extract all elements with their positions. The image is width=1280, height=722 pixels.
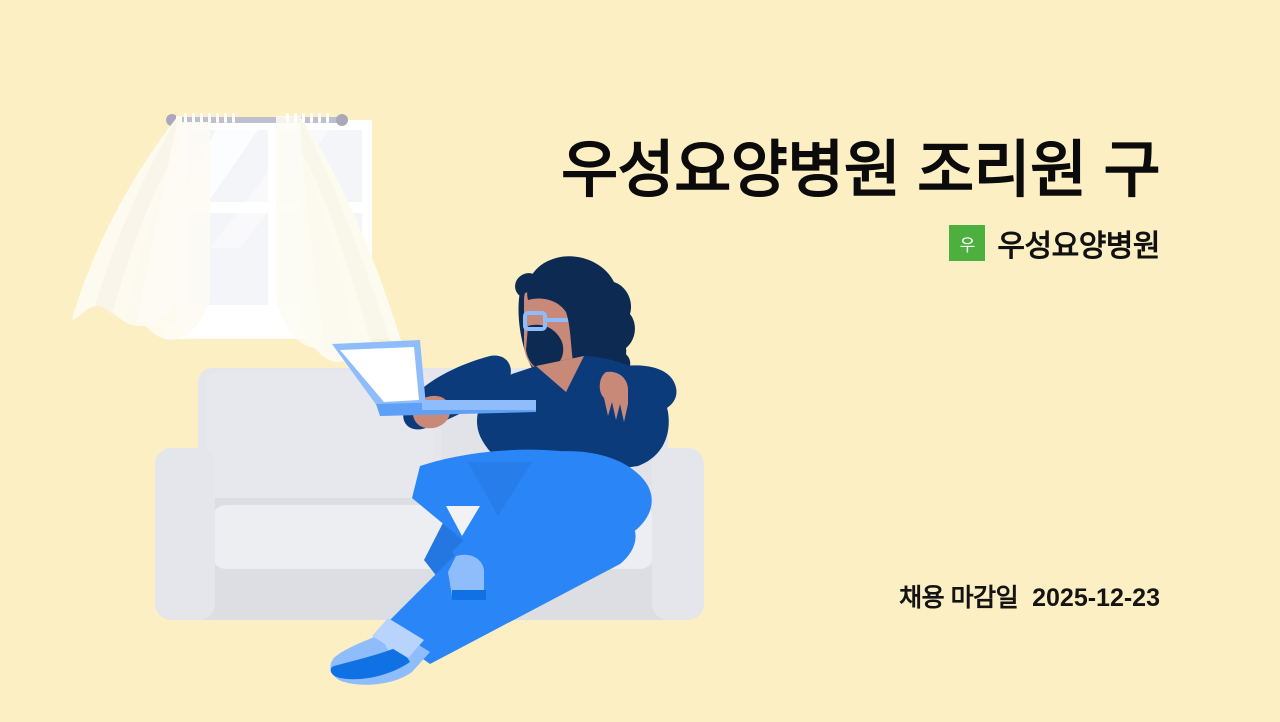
curtain-ring: [208, 113, 211, 123]
deadline-row: 채용 마감일 2025-12-23: [899, 578, 1160, 614]
job-title: 우성요양병원 조리원 구: [60, 132, 1160, 210]
sofa-arm-left: [155, 448, 215, 620]
sofa-arm-right: [652, 448, 704, 620]
curtain-ring: [224, 113, 227, 123]
curtain-rod-cap-right: [336, 114, 348, 126]
company-logo-badge: 우: [949, 225, 985, 261]
curtain-ring: [200, 113, 203, 123]
curtain-ring: [192, 113, 195, 123]
company-name: 우성요양병원: [997, 221, 1160, 265]
curtain-ring: [286, 113, 289, 123]
job-posting-banner: 우성요양병원 조리원 구 우 우성요양병원 채용 마감일 2025-12-23: [0, 0, 1280, 722]
curtain-ring: [326, 113, 329, 123]
company-row: 우 우성요양병원: [949, 221, 1160, 265]
curtain-ring: [294, 113, 297, 123]
deadline-date: 2025-12-23: [1032, 584, 1160, 613]
curtain-ring: [232, 113, 235, 123]
curtain-ring: [302, 113, 305, 123]
curtain-ring: [184, 113, 187, 123]
deadline-label: 채용 마감일: [899, 578, 1018, 614]
curtain-ring: [216, 113, 219, 123]
curtain-ring: [318, 113, 321, 123]
laptop-base-edge: [422, 400, 536, 410]
curtain-ring: [310, 113, 313, 123]
person-shoe-back-sole: [452, 590, 486, 600]
